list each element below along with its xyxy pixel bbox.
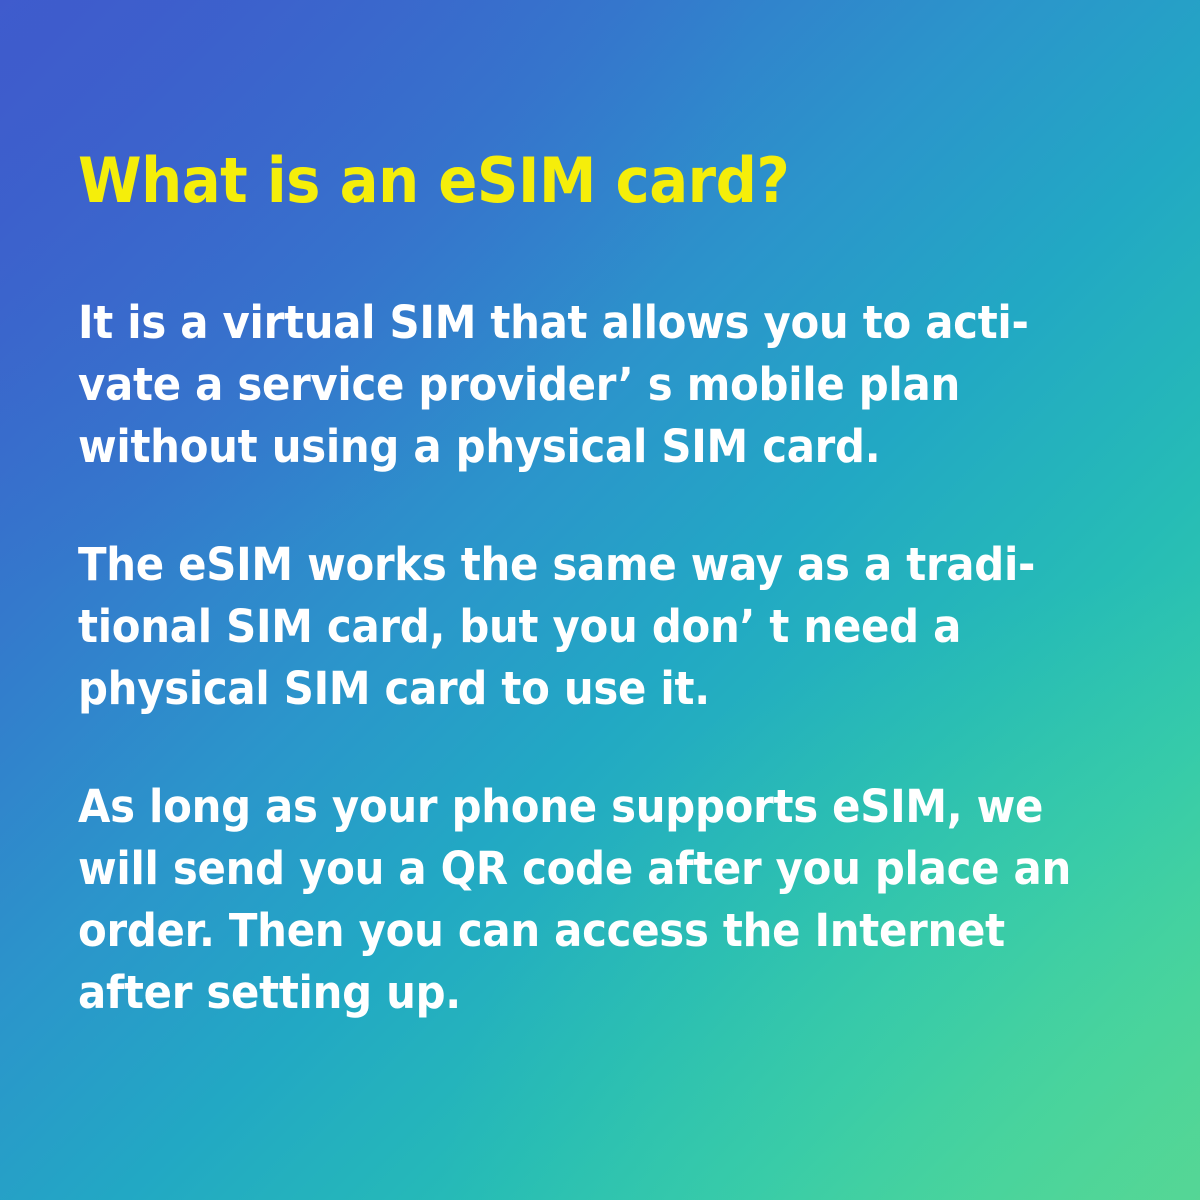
- paragraph-how-it-works: The eSIM works the same way as a tradi- …: [78, 534, 1017, 720]
- paragraph-definition: It is a virtual SIM that allows you to a…: [78, 292, 1017, 478]
- paragraph-line: after setting up.: [78, 962, 1017, 1024]
- paragraph-line: tional SIM card, but you don’ t need a: [78, 596, 1017, 658]
- page-title: What is an eSIM card?: [78, 150, 789, 212]
- paragraph-line: It is a virtual SIM that allows you to a…: [78, 292, 1017, 354]
- paragraph-line: The eSIM works the same way as a tradi-: [78, 534, 1017, 596]
- body-copy: It is a virtual SIM that allows you to a…: [78, 292, 1088, 1024]
- paragraph-line: order. Then you can access the Internet: [78, 900, 1017, 962]
- paragraph-delivery: As long as your phone supports eSIM, we …: [78, 776, 1017, 1024]
- paragraph-line: As long as your phone supports eSIM, we: [78, 776, 1017, 838]
- paragraph-line: without using a physical SIM card.: [78, 416, 1017, 478]
- paragraph-line: vate a service provider’ s mobile plan: [78, 354, 1017, 416]
- esim-info-poster: What is an eSIM card? It is a virtual SI…: [0, 0, 1200, 1200]
- paragraph-line: physical SIM card to use it.: [78, 658, 1017, 720]
- paragraph-line: will send you a QR code after you place …: [78, 838, 1017, 900]
